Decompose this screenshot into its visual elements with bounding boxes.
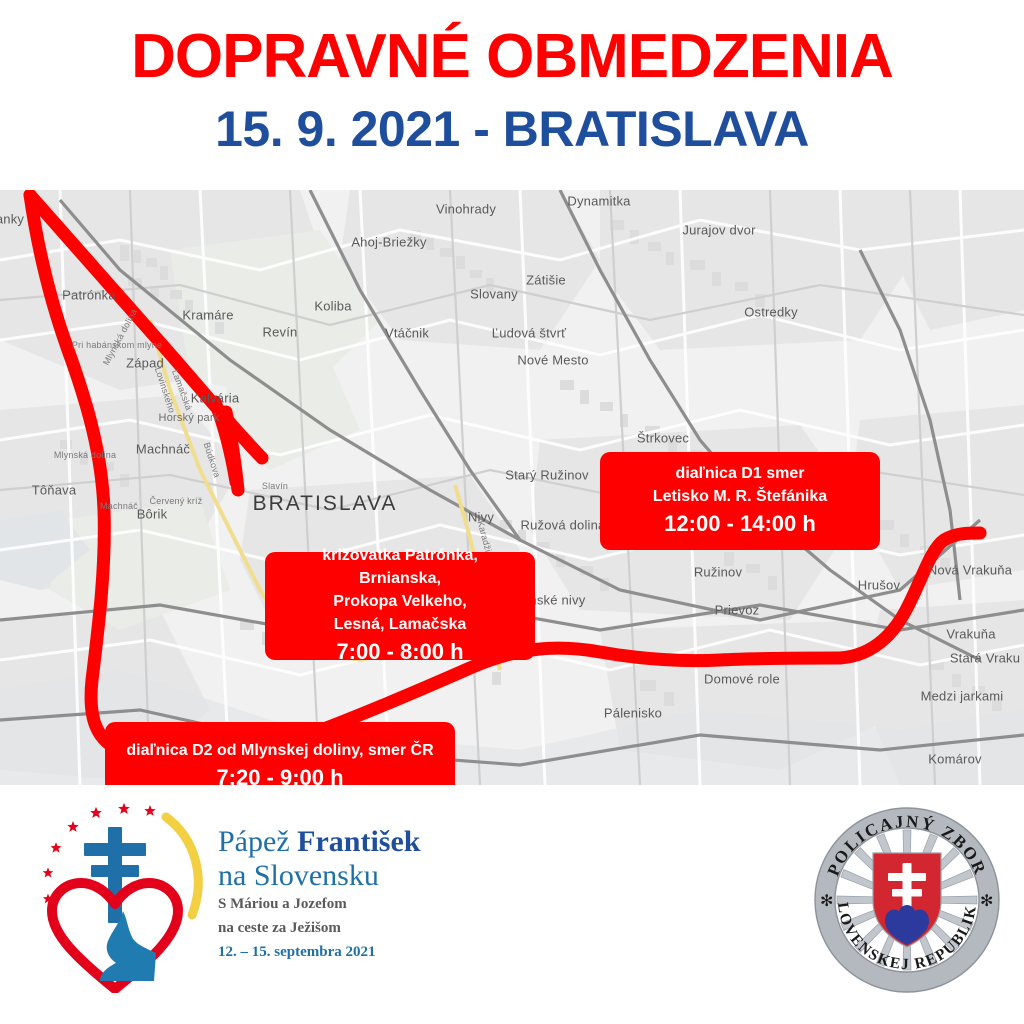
papal-visit-logo bbox=[28, 803, 218, 993]
map-place-label: BRATISLAVA bbox=[253, 492, 398, 516]
map-place-label: Ostredky bbox=[744, 305, 798, 320]
papal-date: 12. – 15. septembra 2021 bbox=[218, 942, 548, 964]
map-place-label: Dynamitka bbox=[567, 194, 630, 209]
map-place-label: Slovany bbox=[470, 287, 518, 302]
papal-visit-text: Pápež František na Slovensku S Máriou a … bbox=[218, 825, 548, 963]
map-place-label: Machnáč bbox=[100, 501, 138, 511]
info-line: Prokopa Velkeho, bbox=[281, 590, 519, 613]
map-place-label: Stará Vraku bbox=[950, 651, 1020, 666]
map-place-label: Domové role bbox=[704, 672, 780, 687]
map-place-label: Hrušov bbox=[858, 578, 900, 593]
asterisk-left: ✻ bbox=[820, 893, 833, 910]
map-place-label: Koliba bbox=[314, 299, 351, 314]
map-place-label: Pálenisko bbox=[604, 706, 662, 721]
map-place-label: Nová Vrakuňa bbox=[928, 563, 1012, 578]
map-place-label: Štrkovec bbox=[637, 431, 689, 446]
page-subtitle: 15. 9. 2021 - BRATISLAVA bbox=[0, 104, 1024, 154]
info-line: diaľnica D1 smer bbox=[616, 462, 864, 485]
map-place-label: Zátišie bbox=[526, 273, 566, 288]
map-place-label: Červený kríž bbox=[150, 496, 203, 506]
papal-title-line1: Pápež František bbox=[218, 825, 548, 859]
papal-title-line2: na Slovensku bbox=[218, 859, 548, 893]
map-place-label: Komárov bbox=[928, 752, 981, 767]
map-place-label: Jurajov dvor bbox=[682, 223, 755, 238]
map-canvas[interactable]: VinohradyDynamitkaAhoj-BriežkyJurajov dv… bbox=[0, 190, 1024, 785]
map-place-label: anky bbox=[0, 212, 24, 227]
map-place-label: Vinohrady bbox=[436, 202, 496, 217]
info-box-d2[interactable]: diaľnica D2 od Mlynskej doliny, smer ČR … bbox=[105, 722, 455, 785]
map-place-label: Ružová dolina bbox=[521, 518, 606, 533]
info-box-patronka[interactable]: križovatka Patrónka, Brnianska, Prokopa … bbox=[265, 552, 535, 660]
info-box-d1[interactable]: diaľnica D1 smer Letisko M. R. Štefánika… bbox=[600, 452, 880, 550]
map-place-label: Slavín bbox=[262, 481, 288, 491]
page-title: DOPRAVNÉ OBMEDZENIA bbox=[0, 26, 1024, 88]
map-place-label: Ľudová štvrť bbox=[492, 326, 566, 341]
map-place-label: Prievoz bbox=[715, 603, 760, 618]
info-line: Lesná, Lamačska bbox=[281, 613, 519, 636]
map-place-label: Machnáč bbox=[136, 442, 190, 457]
info-line: diaľnica D2 od Mlynskej doliny, smer ČR bbox=[121, 739, 439, 762]
asterisk-right: ✻ bbox=[980, 893, 993, 910]
map-place-label: Kramáre bbox=[182, 308, 233, 323]
info-time: 7:20 - 9:00 h bbox=[121, 762, 439, 785]
map-place-label: Ružinov bbox=[694, 565, 742, 580]
papal-sub1: S Máriou a Jozefom bbox=[218, 894, 548, 916]
map-place-label: Mlynská dolina bbox=[54, 450, 116, 460]
info-line: križovatka Patrónka, Brnianska, bbox=[281, 544, 519, 590]
map-place-label: Medzi jarkami bbox=[921, 689, 1004, 704]
papal-sub2: na ceste za Ježišom bbox=[218, 918, 548, 940]
map-place-label: Vrakuňa bbox=[946, 627, 995, 642]
map-place-label: Revín bbox=[263, 325, 298, 340]
poster-header: DOPRAVNÉ OBMEDZENIA 15. 9. 2021 - BRATIS… bbox=[0, 0, 1024, 190]
map-place-label: Tôňava bbox=[32, 483, 77, 498]
map-place-label: Patrónka bbox=[62, 288, 116, 303]
info-time: 12:00 - 14:00 h bbox=[616, 508, 864, 540]
map-place-label: Pri habánskom mlyne bbox=[72, 340, 162, 350]
map-place-label: Vtáčnik bbox=[385, 326, 429, 341]
poster-footer: Pápež František na Slovensku S Máriou a … bbox=[0, 785, 1024, 1024]
map-place-label: Bôrik bbox=[137, 507, 168, 522]
map-place-label: Starý Ružinov bbox=[505, 468, 589, 483]
map-place-label: Kalvária bbox=[191, 391, 240, 406]
map-place-label: Nové Mesto bbox=[517, 353, 588, 368]
info-time: 7:00 - 8:00 h bbox=[281, 636, 519, 668]
info-line: Letisko M. R. Štefánika bbox=[616, 485, 864, 508]
police-emblem: POLICAJNÝ ZBOR SLOVENSKEJ REPUBLIKY ✻ ✻ bbox=[812, 805, 1002, 995]
map-place-label: Ahoj-Briežky bbox=[351, 235, 426, 250]
